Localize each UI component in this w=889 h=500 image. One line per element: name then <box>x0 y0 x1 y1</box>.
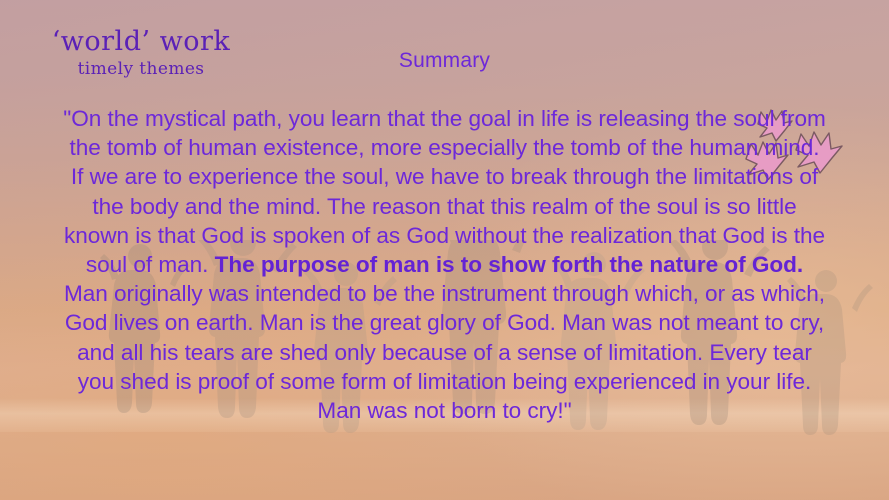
page-title: Summary <box>0 49 889 73</box>
quote-text-part-2: Man originally was intended to be the in… <box>64 281 825 423</box>
quote-text-emphasis: The purpose of man is to show forth the … <box>215 252 804 277</box>
summary-slide: ‘world’ work timely themes Summary "On t… <box>0 0 889 500</box>
summary-quote: "On the mystical path, you learn that th… <box>62 104 827 425</box>
